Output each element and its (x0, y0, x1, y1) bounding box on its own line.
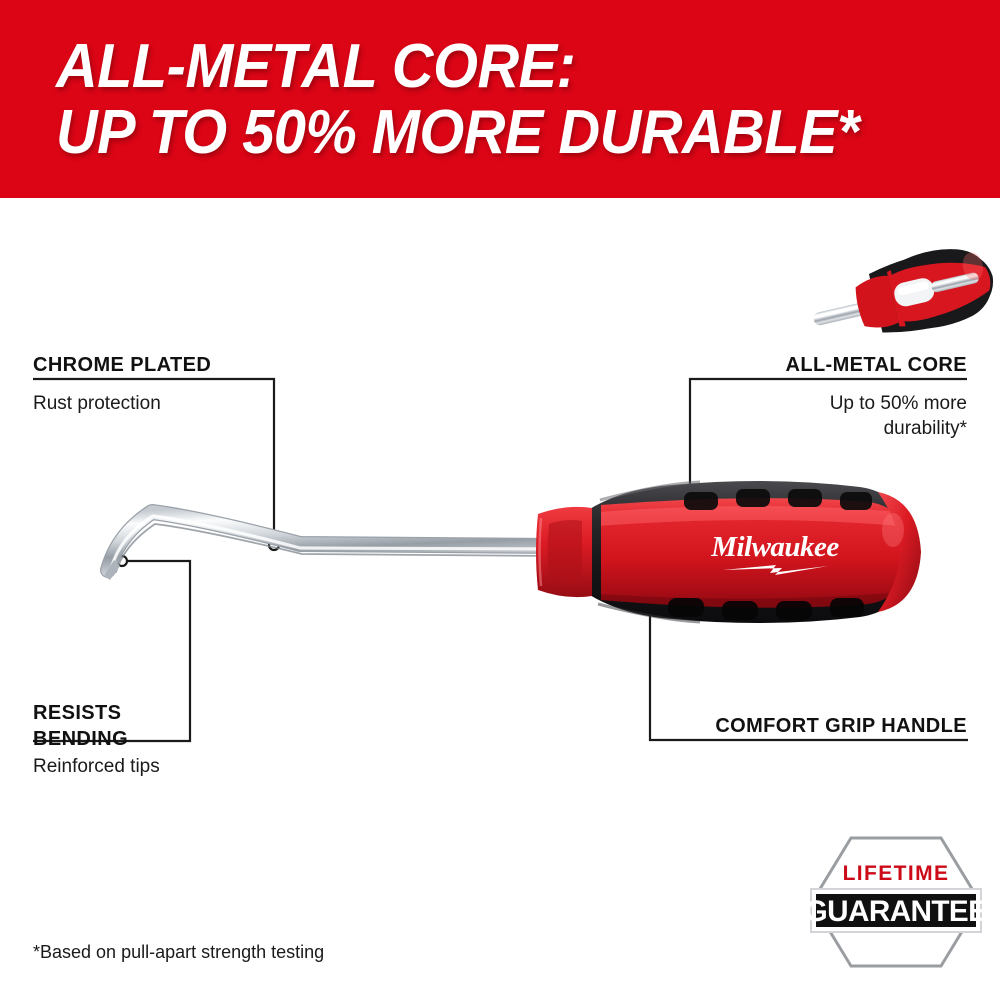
callout-subtitle-all-metal-core: Up to 50% moredurability* (547, 391, 967, 441)
footnote-text: *Based on pull-apart strength testing (33, 942, 324, 963)
callout-title-all-metal-core: ALL-METAL CORE (547, 352, 967, 378)
callout-title-resists-bending: RESISTSBENDING (33, 700, 128, 752)
callout-subtitle-chrome-plated: Rust protection (33, 391, 161, 416)
all-metal-core-inset (805, 239, 1000, 355)
badge-lifetime-text: LIFETIME (843, 862, 950, 885)
chrome-shaft (104, 512, 560, 580)
callout-subtitle-reinforced-tips: Reinforced tips (33, 754, 160, 779)
milwaukee-logo-text: Milwaukee (710, 531, 839, 563)
callout-title-chrome-plated: CHROME PLATED (33, 352, 211, 378)
infographic-canvas: ALL-METAL CORE:UP TO 50% MORE DURABLE* (0, 0, 1000, 1000)
lifetime-guarantee-badge: LIFETIME GUARANTEE (806, 832, 986, 972)
tool-handle: Milwaukee (536, 481, 921, 623)
callout-title-comfort-grip-handle: COMFORT GRIP HANDLE (467, 713, 967, 739)
badge-guarantee-text: GUARANTEE (806, 895, 986, 928)
handle-collar (536, 507, 592, 597)
